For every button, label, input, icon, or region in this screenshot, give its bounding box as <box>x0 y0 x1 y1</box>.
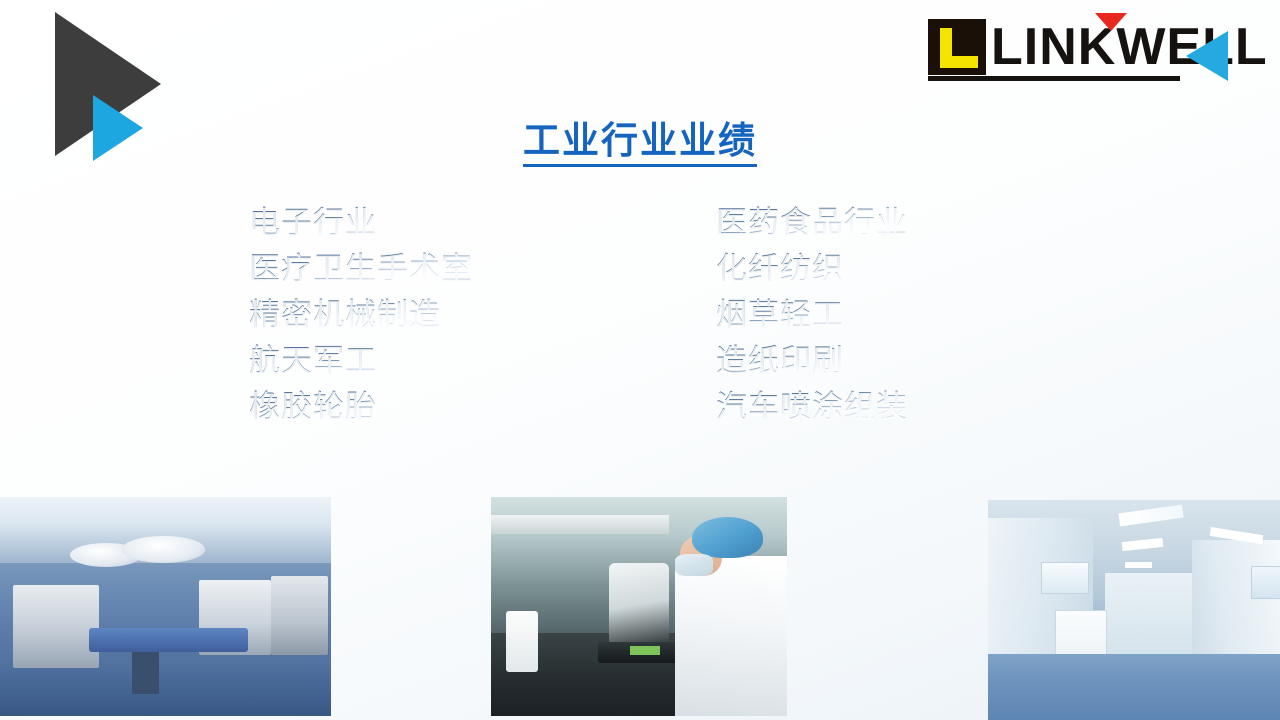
list-item: 医疗卫生手术室 <box>249 246 473 292</box>
list-item: 烟草轻工 <box>716 292 908 338</box>
list-item: 航天军工 <box>249 338 473 384</box>
photo-detail-face-mask <box>675 554 713 576</box>
photo-detail-window <box>1251 566 1280 599</box>
photo-detail-ceiling-light <box>1125 562 1151 569</box>
photo-cleanroom-corridor <box>988 500 1280 720</box>
list-item: 医药食品行业 <box>716 200 908 246</box>
red-triangle-icon <box>1095 13 1127 31</box>
page-title-text: 工业行业业绩 <box>523 119 757 167</box>
list-item: 汽车喷涂组装 <box>716 384 908 430</box>
industry-list: 电子行业 医疗卫生手术室 精密机械制造 航天军工 橡胶轮胎 医药食品行业 化纤纺… <box>0 200 1280 440</box>
photo-laboratory <box>491 497 787 716</box>
photo-detail-equipment-rack <box>271 576 327 655</box>
photo-detail-window <box>1041 562 1090 595</box>
photo-detail-screen <box>630 646 660 655</box>
blue-arrow-icon <box>1186 31 1228 81</box>
logo-letter-l-horizontal <box>940 56 978 68</box>
photo-detail-microscope <box>609 563 668 646</box>
industry-column-right: 医药食品行业 化纤纺织 烟草轻工 造纸印刷 汽车喷涂组装 <box>716 200 908 430</box>
list-item: 造纸印刷 <box>716 338 908 384</box>
photo-detail-shelf <box>491 515 669 535</box>
linkwell-logo: LINKWELL <box>928 12 1248 84</box>
photo-detail-floor <box>0 668 331 716</box>
presentation-slide: LINKWELL 工业行业业绩 电子行业 医疗卫生手术室 精密机械制造 航天军工… <box>0 0 1280 720</box>
list-item: 化纤纺织 <box>716 246 908 292</box>
photo-detail-equipment-cart <box>13 585 99 668</box>
photo-detail-surgical-lamp <box>122 536 205 562</box>
photo-detail-end-wall <box>1105 573 1193 657</box>
logo-underline <box>928 76 1180 81</box>
photo-operating-room <box>0 497 331 716</box>
photo-detail-lab-coat <box>675 556 787 716</box>
photo-detail-floor <box>988 654 1280 720</box>
photo-detail-table-base <box>132 652 158 694</box>
photo-detail-hair-cap <box>692 517 763 559</box>
photo-detail-operating-table <box>89 628 248 652</box>
list-item: 电子行业 <box>249 200 473 246</box>
industry-column-left: 电子行业 医疗卫生手术室 精密机械制造 航天军工 橡胶轮胎 <box>249 200 473 430</box>
list-item: 橡胶轮胎 <box>249 384 473 430</box>
photo-detail-bottle <box>506 611 539 672</box>
list-item: 精密机械制造 <box>249 292 473 338</box>
page-title: 工业行业业绩 <box>0 119 1280 167</box>
